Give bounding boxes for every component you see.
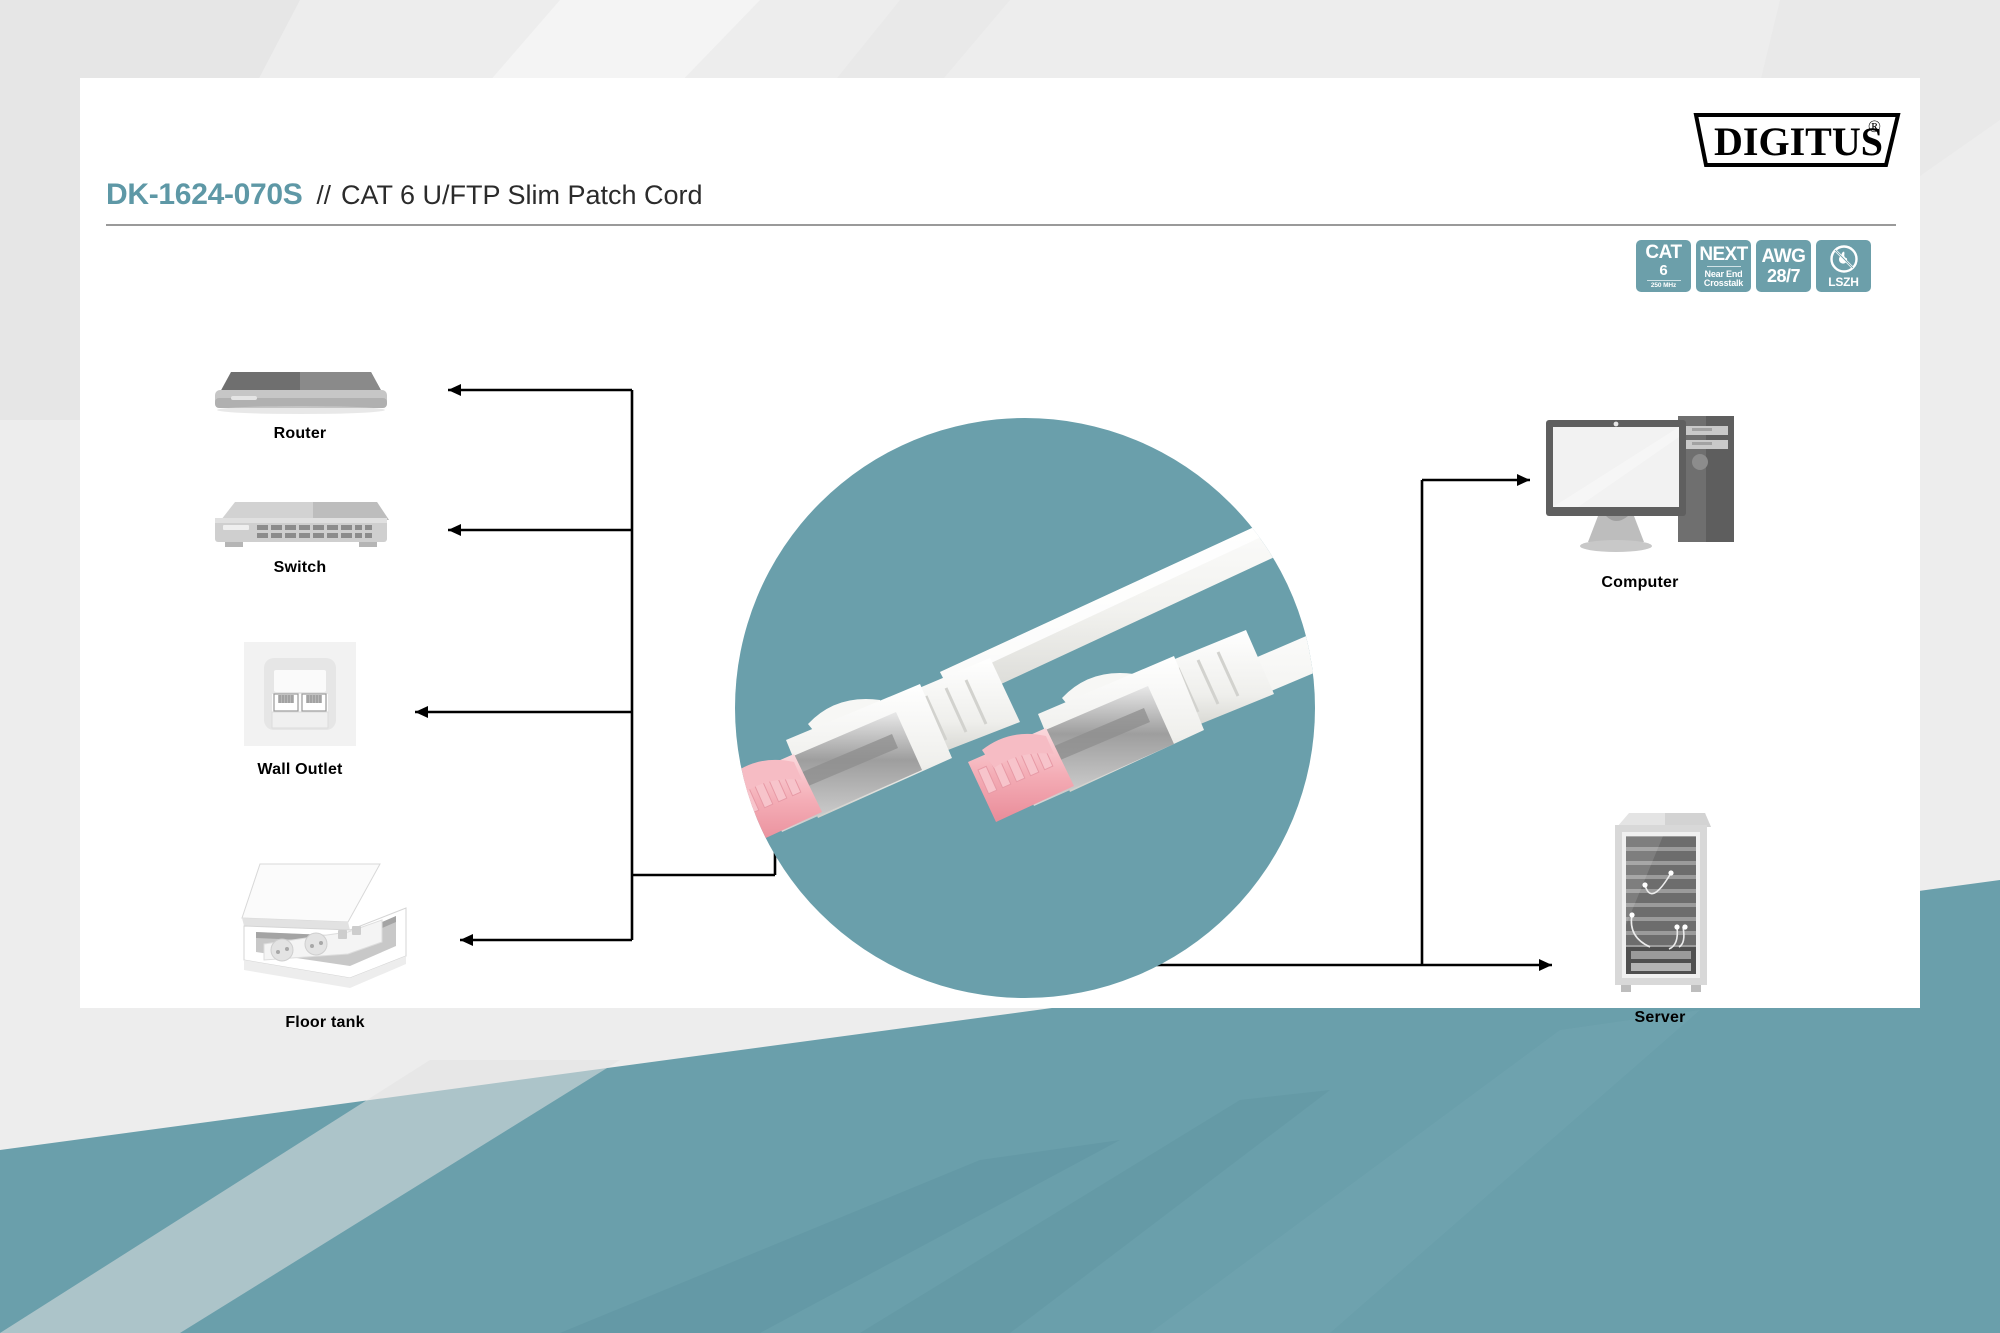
patch-cord-illustration	[690, 372, 1360, 1044]
device-floor-tank[interactable]: Floor tank	[200, 860, 450, 1032]
server-icon	[1605, 805, 1715, 1000]
device-switch[interactable]: Switch	[170, 492, 430, 577]
badge-cat6-main: CAT	[1645, 243, 1681, 262]
logo-trademark: ®	[1868, 117, 1881, 136]
switch-icon	[205, 492, 395, 550]
badge-lszh-label: LSZH	[1828, 276, 1859, 288]
badge-awg-sub: 28/7	[1767, 267, 1800, 285]
badge-cat6: CAT 6 250 MHz	[1636, 240, 1691, 292]
no-flame-icon	[1829, 244, 1859, 274]
device-computer[interactable]: Computer	[1500, 410, 1780, 592]
badge-awg-main: AWG	[1762, 247, 1806, 266]
wall-outlet-icon	[240, 640, 360, 752]
floor-tank-icon	[230, 860, 420, 1005]
device-server[interactable]: Server	[1560, 805, 1760, 1027]
logo-text: DIGITUS	[1714, 119, 1883, 164]
device-router[interactable]: Router	[170, 360, 430, 443]
badge-awg: AWG 28/7	[1756, 240, 1811, 292]
badge-cat6-frequency: 250 MHz	[1651, 283, 1676, 290]
rj45-jack-left	[274, 694, 298, 711]
product-sku: DK-1624-070S	[106, 178, 303, 212]
device-wall-outlet-label: Wall Outlet	[200, 761, 400, 779]
device-computer-label: Computer	[1500, 574, 1780, 592]
rj45-jack-right	[302, 694, 326, 711]
hero-product-image	[690, 372, 1360, 1044]
product-description: CAT 6 U/FTP Slim Patch Cord	[341, 180, 703, 211]
badge-next-divider	[1707, 266, 1741, 267]
device-server-label: Server	[1560, 1009, 1760, 1027]
device-switch-label: Switch	[170, 559, 430, 577]
badge-lszh: LSZH	[1816, 240, 1871, 292]
header-divider	[106, 224, 1896, 226]
device-router-label: Router	[170, 425, 430, 443]
badge-cat6-sub: 6	[1659, 263, 1667, 278]
computer-icon	[1540, 410, 1740, 565]
device-floor-tank-label: Floor tank	[200, 1014, 450, 1032]
title-separator: //	[317, 180, 331, 211]
logo-mark: DIGITUS ®	[1690, 105, 1902, 173]
spec-badges: CAT 6 250 MHz NEXT Near End Crosstalk AW…	[1636, 240, 1871, 292]
device-wall-outlet[interactable]: Wall Outlet	[200, 640, 400, 779]
page-title: DK-1624-070S//CAT 6 U/FTP Slim Patch Cor…	[106, 178, 703, 212]
digitus-logo: DIGITUS ®	[1690, 105, 1902, 173]
badge-cat6-divider	[1647, 280, 1681, 281]
router-icon	[205, 360, 395, 416]
badge-next-line2: Crosstalk	[1704, 279, 1743, 288]
badge-next: NEXT Near End Crosstalk	[1696, 240, 1751, 292]
badge-next-main: NEXT	[1699, 245, 1747, 264]
